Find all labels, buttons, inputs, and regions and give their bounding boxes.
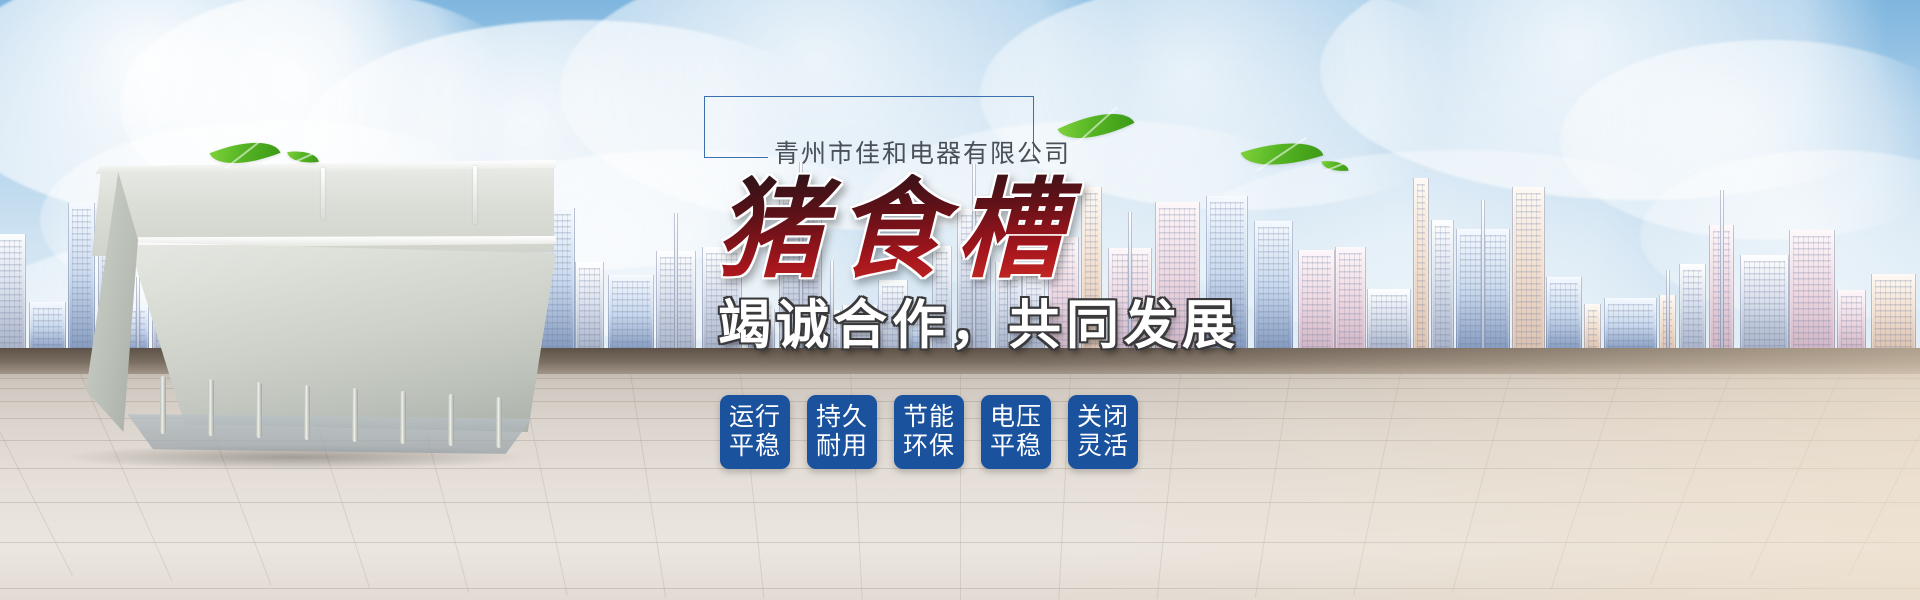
trough-bar [208, 379, 214, 436]
trough-bar [256, 382, 262, 438]
skyline-spire [1481, 200, 1485, 352]
promo-banner: 青州市佳和电器有限公司 猪食槽 竭诚合作，共同发展 运行平稳持久耐用节能环保电压… [0, 0, 1920, 600]
badge-line-1: 关闭 [1077, 403, 1129, 432]
badge-line-2: 灵活 [1077, 432, 1129, 461]
badge-line-2: 平稳 [990, 432, 1042, 461]
feature-badge-3[interactable]: 节能环保 [894, 395, 964, 469]
badge-line-1: 持久 [816, 403, 868, 432]
feature-badge-4[interactable]: 电压平稳 [981, 395, 1051, 469]
skyline-building [0, 234, 26, 352]
trough-bar [496, 397, 502, 448]
floor-line-vertical [630, 374, 666, 597]
skyline-building [608, 275, 654, 352]
badge-line-1: 电压 [990, 403, 1042, 432]
trough-divider [473, 166, 477, 224]
banner-copy: 青州市佳和电器有限公司 猪食槽 竭诚合作，共同发展 运行平稳持久耐用节能环保电压… [700, 96, 1460, 469]
trough-bar [160, 376, 166, 434]
badge-line-2: 耐用 [816, 432, 868, 461]
badge-line-2: 环保 [903, 432, 955, 461]
skyline-spire [1666, 270, 1670, 352]
floor-line-vertical [0, 374, 73, 576]
skyline-spire [1720, 190, 1724, 352]
skyline-building [575, 262, 604, 352]
company-name-frame: 青州市佳和电器有限公司 [704, 96, 1034, 158]
badge-line-1: 节能 [903, 403, 955, 432]
skyline-building [1740, 255, 1789, 352]
trough-bar [304, 385, 310, 440]
feature-badge-5[interactable]: 关闭灵活 [1068, 395, 1138, 469]
frame-dash-line [704, 157, 768, 158]
skyline-building [1512, 187, 1545, 352]
company-name: 青州市佳和电器有限公司 [774, 134, 1071, 170]
skyline-building [1604, 298, 1657, 352]
trough-divider [321, 168, 325, 220]
feature-badge-2[interactable]: 持久耐用 [807, 395, 877, 469]
trough-bottom-grate [110, 414, 540, 454]
skyline-building [1871, 274, 1916, 352]
trough-bar [400, 391, 406, 444]
main-title: 猪食槽 [716, 174, 1460, 287]
feature-badge-1[interactable]: 运行平稳 [720, 395, 790, 469]
skyline-building [1837, 290, 1866, 352]
frame-top-line [704, 96, 1034, 97]
skyline-building [1546, 277, 1582, 352]
trough-front-panel [86, 242, 556, 432]
skyline-building [1679, 264, 1706, 352]
frame-left-line [704, 96, 705, 158]
product-image-pig-feeding-trough [86, 164, 556, 464]
trough-bar [352, 388, 358, 442]
skyline-spire [674, 213, 678, 352]
skyline-building [29, 302, 66, 352]
skyline-building [1584, 304, 1601, 352]
feature-badge-list: 运行平稳持久耐用节能环保电压平稳关闭灵活 [720, 395, 1460, 469]
sub-title: 竭诚合作，共同发展 [718, 283, 1460, 359]
trough-bar [448, 394, 454, 446]
skyline-building [1789, 230, 1835, 352]
badge-line-1: 运行 [729, 403, 781, 432]
badge-line-2: 平稳 [729, 432, 781, 461]
